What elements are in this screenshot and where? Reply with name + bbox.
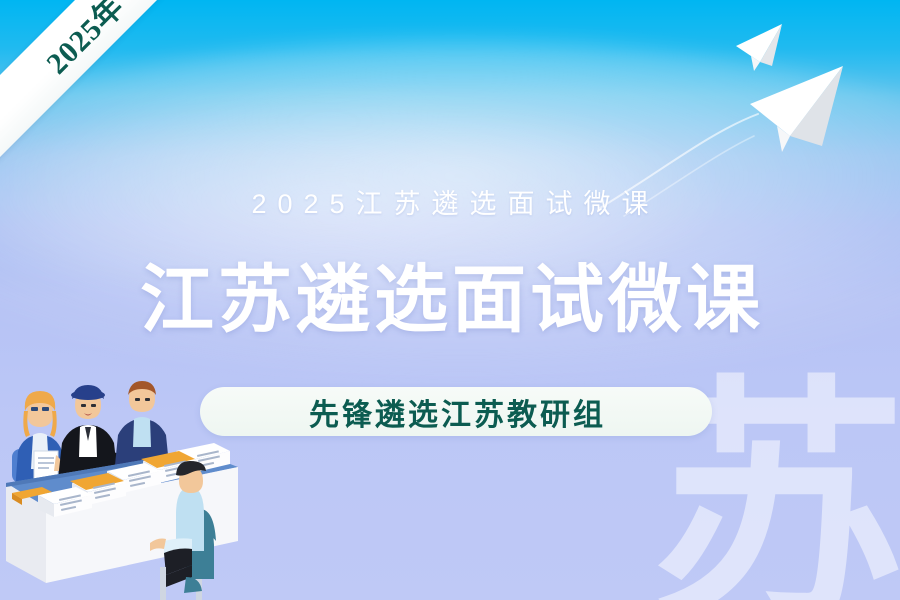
year-ribbon: 2025年 [0, 0, 206, 184]
interviewer-right [115, 381, 169, 465]
paper-plane-small-icon [736, 24, 782, 71]
poster-subtitle: 2025江苏遴选面试微课 [0, 182, 900, 221]
year-ribbon-label: 2025年 [6, 0, 133, 110]
team-badge-label: 先锋遴选江苏教研组 [306, 390, 606, 434]
interview-panel-illustration [0, 355, 290, 600]
poster-title: 江苏遴选面试微课 [0, 258, 900, 342]
paper-plane-large-icon [750, 66, 843, 152]
poster-canvas: 2025年 苏 2025江苏遴选面试微课 江苏遴选面试微课 先锋遴选江苏教研组 [0, 0, 900, 600]
paper-planes-group [710, 0, 900, 160]
